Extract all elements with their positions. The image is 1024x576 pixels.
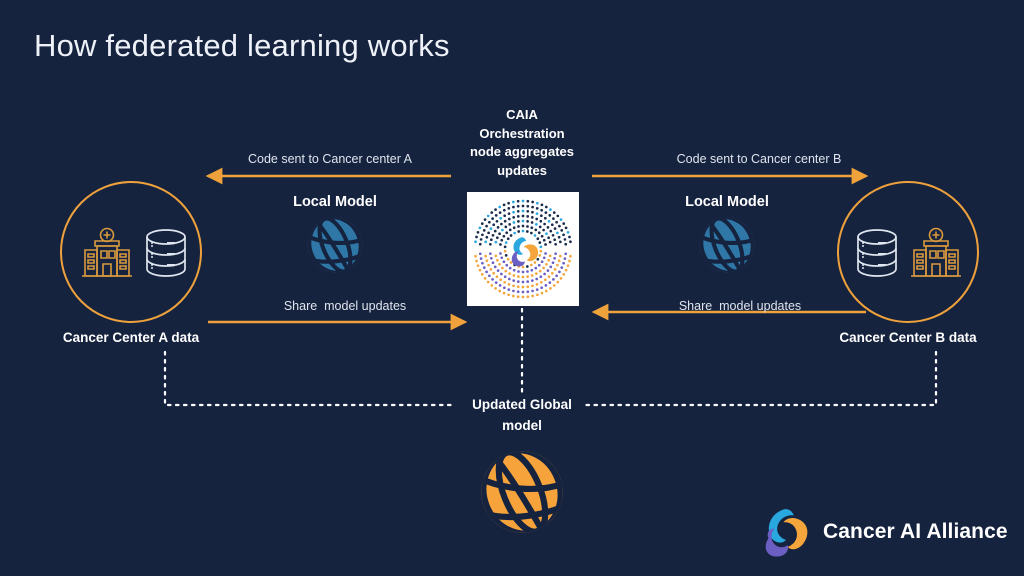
node-cancer-center-a[interactable]	[60, 181, 202, 323]
globe-icon	[477, 447, 567, 537]
caia-orchestration-node-image	[467, 192, 579, 306]
brand-name: Cancer AI Alliance	[823, 520, 1008, 544]
local-model-b-label: Local Model	[647, 194, 807, 210]
center-caption: CAIA Orchestration node aggregates updat…	[442, 106, 602, 180]
dotted-connector-right	[585, 352, 936, 405]
center-caption-line-4: updates	[442, 162, 602, 181]
globe-icon	[305, 215, 365, 275]
arrow-label-share-updates-a: Share model updates	[180, 299, 510, 313]
node-cancer-center-b[interactable]	[837, 181, 979, 323]
orchestration-dot-rings-icon	[467, 192, 579, 306]
arrow-label-code-to-b: Code sent to Cancer center B	[594, 152, 924, 166]
node-cancer-center-b-icons	[839, 183, 981, 325]
node-label-cancer-center-a: Cancer Center A data	[1, 330, 261, 345]
updated-global-model-line-1: Updated Global	[442, 394, 602, 415]
center-caption-line-2: Orchestration	[442, 125, 602, 144]
updated-global-model-caption: Updated Global model	[442, 394, 602, 436]
cancer-ai-alliance-logo-icon	[758, 504, 814, 560]
database-icon	[142, 226, 190, 282]
slide-canvas: How federated learning works	[0, 0, 1024, 576]
center-caption-line-1: CAIA	[442, 106, 602, 125]
globe-icon	[697, 215, 757, 275]
updated-global-model-icon-wrap	[477, 447, 567, 542]
local-model-a-label: Local Model	[255, 194, 415, 210]
database-icon	[853, 226, 901, 282]
local-model-b: Local Model	[647, 194, 807, 275]
local-model-a: Local Model	[255, 194, 415, 275]
node-label-cancer-center-b: Cancer Center B data	[778, 330, 1024, 345]
brand-logo: Cancer AI Alliance	[758, 504, 1008, 560]
page-title: How federated learning works	[34, 28, 450, 64]
node-cancer-center-a-icons	[62, 183, 204, 325]
dotted-connector-left	[165, 352, 455, 405]
hospital-icon	[76, 223, 138, 285]
updated-global-model-line-2: model	[442, 415, 602, 436]
hospital-icon	[905, 223, 967, 285]
center-caption-line-3: node aggregates	[442, 143, 602, 162]
